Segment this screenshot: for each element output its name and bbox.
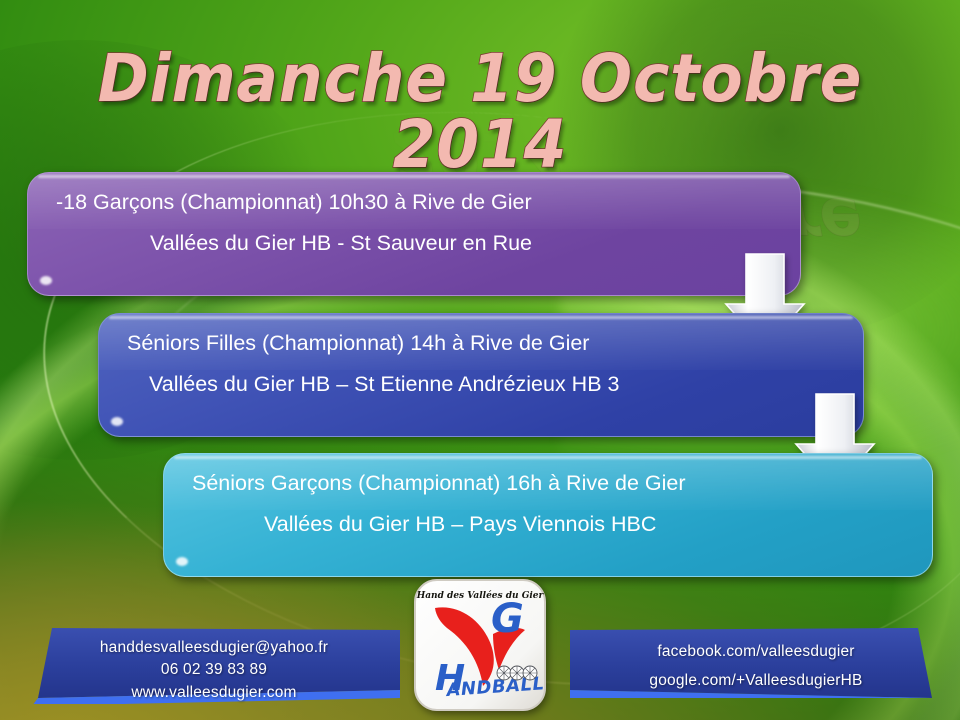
social-facebook[interactable]: facebook.com/valleesdugier	[570, 638, 942, 667]
logo-club-name: Hand des Vallées du Gier	[416, 590, 545, 601]
card-corner-highlight	[176, 557, 188, 566]
page-title-text: Dimanche 19 Octobre 2014	[34, 46, 927, 178]
match-line-teams: Vallées du Gier HB – St Etienne Andrézie…	[121, 371, 841, 399]
match-line-primary: Séniors Garçons (Championnat) 16h à Rive…	[186, 470, 910, 498]
match-line-primary: Séniors Filles (Championnat) 14h à Rive …	[121, 330, 841, 358]
contact-email[interactable]: handdesvalleesdugier@yahoo.fr	[28, 637, 400, 659]
contact-website[interactable]: www.valleesdugier.com	[28, 682, 400, 704]
card-corner-highlight	[40, 276, 52, 285]
svg-text:G: G	[491, 596, 524, 642]
match-line-teams: Vallées du Gier HB - St Sauveur en Rue	[50, 230, 778, 258]
match-card-seniors-filles[interactable]: Séniors Filles (Championnat) 14h à Rive …	[98, 313, 864, 437]
club-logo: G H ANDBALL Hand des Vallées du Gier	[413, 578, 547, 712]
match-card-seniors-garcons[interactable]: Séniors Garçons (Championnat) 16h à Rive…	[163, 453, 933, 577]
card-corner-highlight	[111, 417, 123, 426]
card-top-highlight	[38, 175, 790, 178]
contact-phone: 06 02 39 83 89	[28, 659, 400, 681]
match-line-primary: -18 Garçons (Championnat) 10h30 à Rive d…	[50, 189, 778, 217]
poster-canvas: Dimanche 19 Octobre 2014 Dimanche 19 Oct…	[0, 0, 960, 720]
page-title: Dimanche 19 Octobre 2014	[0, 46, 960, 178]
contact-banner-left: handdesvalleesdugier@yahoo.fr 06 02 39 8…	[28, 628, 400, 704]
card-top-highlight	[109, 316, 853, 319]
card-top-highlight	[174, 456, 922, 459]
match-card-u18-garcons[interactable]: -18 Garçons (Championnat) 10h30 à Rive d…	[27, 172, 801, 296]
match-line-teams: Vallées du Gier HB – Pays Viennois HBC	[186, 511, 910, 539]
social-google[interactable]: google.com/+ValleesdugierHB	[570, 667, 942, 696]
social-banner-right: facebook.com/valleesdugier google.com/+V…	[570, 628, 942, 698]
